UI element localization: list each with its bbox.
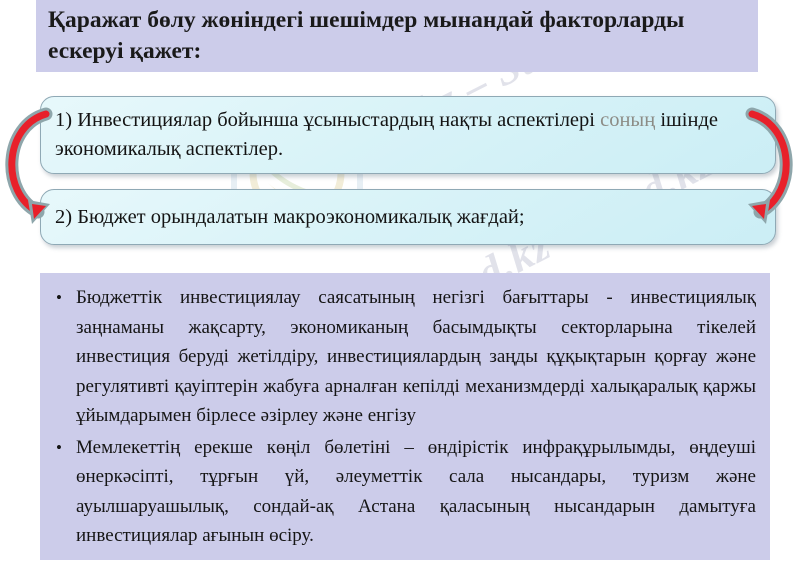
list-item-text: Мемлекеттің ерекше көңіл бөлетіні – өнді… xyxy=(76,437,756,547)
callout-box-1: 1) Инвестициялар бойынша ұсыныстардың на… xyxy=(40,96,776,174)
callout-1-highlight-word: соның xyxy=(600,109,655,131)
bullet-list: Бюджеттік инвестициялау саясатының негіз… xyxy=(48,283,756,551)
page-title: Қаражат бөлу жөніндегі шешімдер мынандай… xyxy=(48,5,708,67)
callout-box-1-text: 1) Инвестициялар бойынша ұсыныстардың на… xyxy=(55,106,761,164)
list-item: Мемлекеттің ерекше көңіл бөлетіні – өнді… xyxy=(48,433,756,551)
callout-1-part-before: 1) Инвестициялар бойынша ұсыныстардың на… xyxy=(55,109,595,131)
list-item: Бюджеттік инвестициялау саясатының негіз… xyxy=(48,283,756,431)
list-item-text: Бюджеттік инвестициялау саясатының негіз… xyxy=(76,287,756,426)
callout-box-2: 2) Бюджет орындалатын макроэкономикалық … xyxy=(40,189,776,245)
bullet-panel: Бюджеттік инвестициялау саясатының негіз… xyxy=(40,273,770,560)
slide-canvas: .kz – Stud.kz d.kz – Stud.kz Stud.kz Қар… xyxy=(0,0,800,563)
callout-box-2-text: 2) Бюджет орындалатын макроэкономикалық … xyxy=(55,203,525,232)
header-band: Қаражат бөлу жөніндегі шешімдер мынандай… xyxy=(36,0,758,72)
